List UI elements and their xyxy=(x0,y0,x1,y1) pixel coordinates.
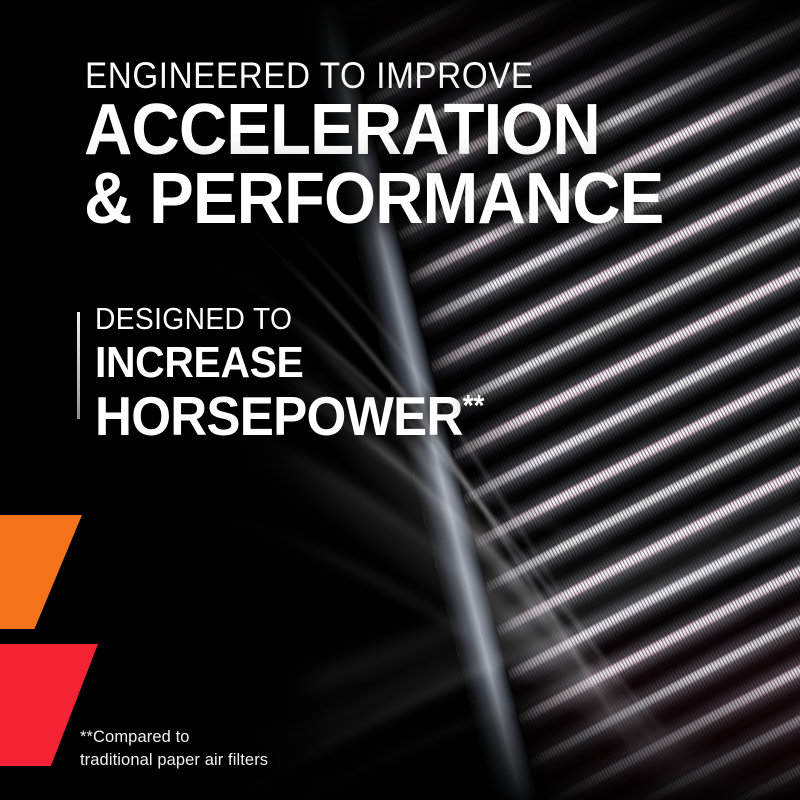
subhead-line-2-text: HORSEPOWER xyxy=(95,385,463,447)
subhead-line-1: INCREASE xyxy=(95,341,484,386)
headline-line-1: ACCELERATION xyxy=(84,90,600,170)
headline-eyebrow: ENGINEERED TO IMPROVE xyxy=(85,57,534,94)
subhead-block: DESIGNED TO INCREASE HORSEPOWER** xyxy=(95,303,514,444)
subhead-line-2: HORSEPOWER** xyxy=(95,389,484,444)
headline-line-2: & PERFORMANCE xyxy=(84,165,663,234)
footnote: **Compared to traditional paper air filt… xyxy=(80,726,268,772)
subhead-eyebrow: DESIGNED TO xyxy=(95,303,476,334)
headline: ACCELERATION & PERFORMANCE xyxy=(84,96,663,234)
footnote-marker: ** xyxy=(463,390,485,423)
copy-block: ENGINEERED TO IMPROVE ACCELERATION & PER… xyxy=(0,0,800,800)
marketing-banner: ENGINEERED TO IMPROVE ACCELERATION & PER… xyxy=(0,0,800,800)
footnote-line-2: traditional paper air filters xyxy=(80,749,268,772)
accent-rule xyxy=(77,312,80,419)
footnote-line-1: **Compared to xyxy=(80,726,268,749)
